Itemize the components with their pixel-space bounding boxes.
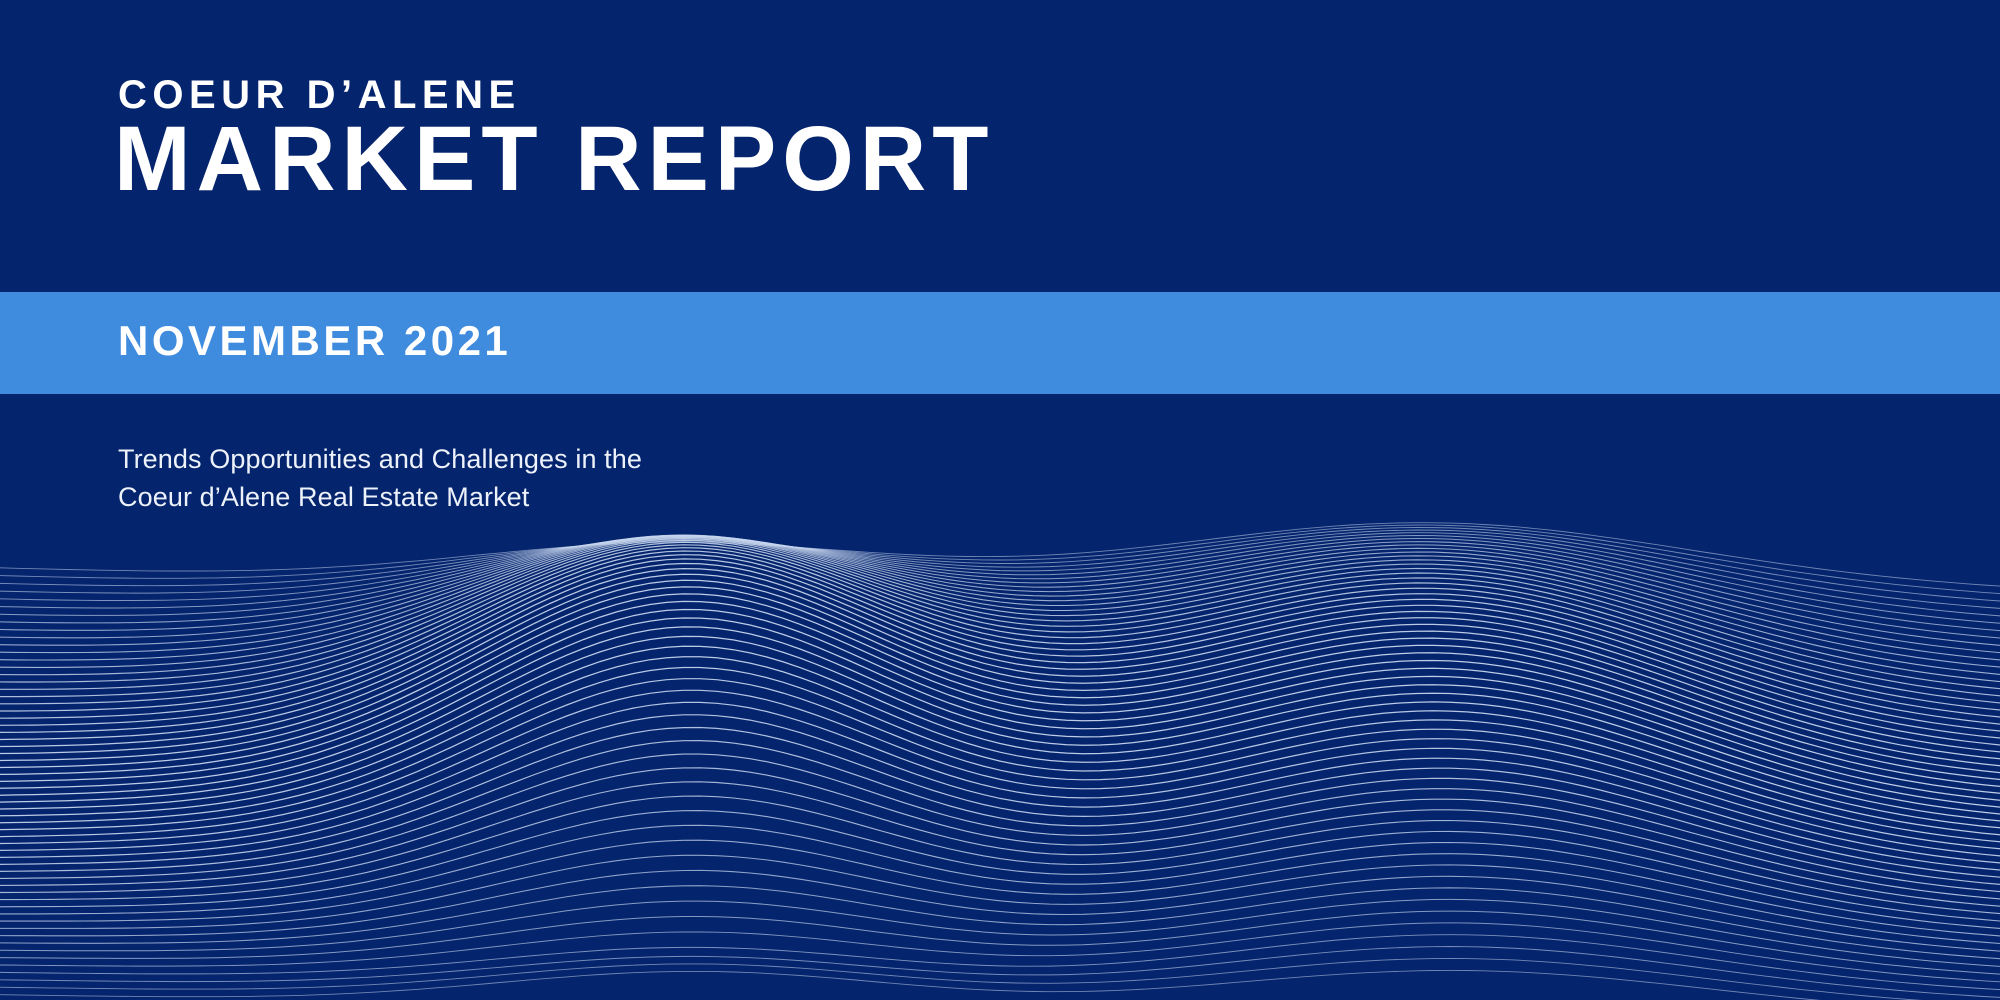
- wave-lines-artwork: [0, 440, 2000, 1000]
- market-report-cover: COEUR D’ALENE MARKET REPORT NOVEMBER 202…: [0, 0, 2000, 1000]
- masthead: COEUR D’ALENE MARKET REPORT: [0, 0, 2000, 292]
- page-title: MARKET REPORT: [114, 113, 994, 205]
- cover-subtitle-line-1: Trends Opportunities and Challenges in t…: [118, 440, 642, 478]
- issue-date: NOVEMBER 2021: [118, 320, 511, 362]
- issue-date-band: NOVEMBER 2021: [0, 292, 2000, 394]
- cover-subtitle-line-2: Coeur d’Alene Real Estate Market: [118, 478, 642, 516]
- cover-subtitle: Trends Opportunities and Challenges in t…: [118, 440, 642, 517]
